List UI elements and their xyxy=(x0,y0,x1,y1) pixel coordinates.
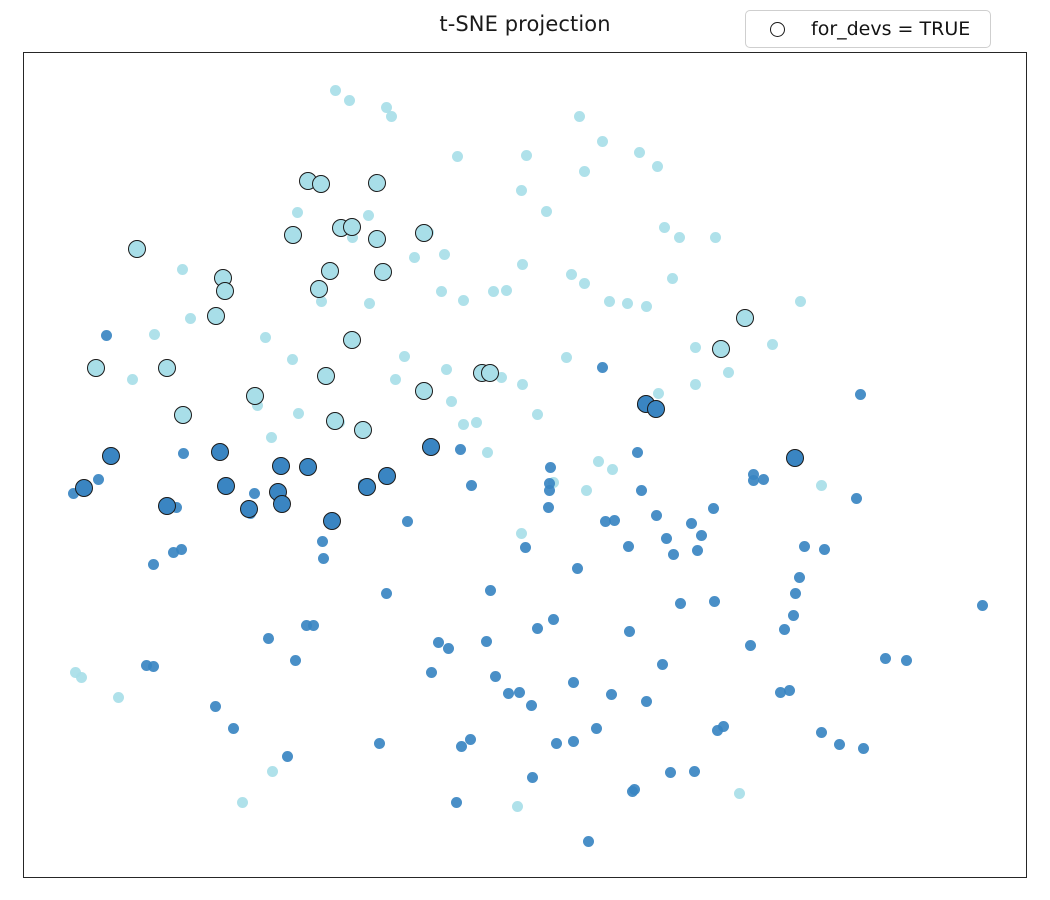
scatter-point xyxy=(520,542,531,553)
scatter-point xyxy=(641,696,652,707)
scatter-point xyxy=(709,596,720,607)
scatter-point xyxy=(880,653,891,664)
scatter-point xyxy=(308,620,319,631)
scatter-point xyxy=(481,636,492,647)
scatter-point xyxy=(696,530,707,541)
scatter-point xyxy=(402,516,413,527)
scatter-point xyxy=(102,447,120,465)
scatter-point xyxy=(799,541,810,552)
scatter-point xyxy=(632,447,643,458)
scatter-point xyxy=(158,497,176,515)
scatter-point xyxy=(374,738,385,749)
scatter-point xyxy=(481,364,499,382)
scatter-point xyxy=(784,685,795,696)
scatter-point xyxy=(653,388,664,399)
scatter-point xyxy=(544,478,555,489)
scatter-point xyxy=(690,342,701,353)
scatter-point xyxy=(426,667,437,678)
scatter-point xyxy=(282,751,293,762)
scatter-point xyxy=(148,661,159,672)
scatter-point xyxy=(512,801,523,812)
scatter-point xyxy=(686,518,697,529)
scatter-point xyxy=(433,637,444,648)
scatter-point xyxy=(647,400,665,418)
scatter-point xyxy=(545,462,556,473)
scatter-point xyxy=(299,458,317,476)
scatter-point xyxy=(579,278,590,289)
scatter-point xyxy=(368,230,386,248)
scatter-point xyxy=(692,545,703,556)
scatter-point xyxy=(901,655,912,666)
scatter-point xyxy=(606,689,617,700)
scatter-point xyxy=(597,136,608,147)
scatter-point xyxy=(451,797,462,808)
scatter-point xyxy=(75,479,93,497)
scatter-point xyxy=(532,623,543,634)
scatter-point xyxy=(458,419,469,430)
scatter-point xyxy=(149,329,160,340)
scatter-point xyxy=(217,477,235,495)
scatter-point xyxy=(788,610,799,621)
scatter-point xyxy=(745,640,756,651)
scatter-point xyxy=(249,488,260,499)
scatter-point xyxy=(668,549,679,560)
scatter-point xyxy=(237,797,248,808)
scatter-point xyxy=(623,541,634,552)
scatter-point xyxy=(548,614,559,625)
scatter-point xyxy=(517,259,528,270)
scatter-point xyxy=(415,382,433,400)
scatter-point xyxy=(659,222,670,233)
scatter-point xyxy=(834,739,845,750)
scatter-point xyxy=(794,572,805,583)
scatter-point xyxy=(816,727,827,738)
scatter-point xyxy=(386,111,397,122)
scatter-point xyxy=(174,406,192,424)
scatter-point xyxy=(622,298,633,309)
scatter-point xyxy=(287,354,298,365)
scatter-point xyxy=(409,252,420,263)
scatter-point xyxy=(665,767,676,778)
scatter-point xyxy=(572,563,583,574)
scatter-point xyxy=(128,240,146,258)
scatter-point xyxy=(374,263,392,281)
scatter-point xyxy=(634,147,645,158)
scatter-point xyxy=(330,85,341,96)
scatter-point xyxy=(272,457,290,475)
scatter-point xyxy=(317,367,335,385)
scatter-point xyxy=(583,836,594,847)
scatter-point xyxy=(604,296,615,307)
scatter-point xyxy=(443,643,454,654)
scatter-point xyxy=(210,701,221,712)
scatter-point xyxy=(76,672,87,683)
scatter-point xyxy=(629,784,640,795)
scatter-point xyxy=(690,379,701,390)
scatter-point xyxy=(185,313,196,324)
scatter-point xyxy=(263,633,274,644)
scatter-point xyxy=(485,585,496,596)
scatter-point xyxy=(321,262,339,280)
scatter-point xyxy=(390,374,401,385)
scatter-point xyxy=(514,687,525,698)
scatter-point xyxy=(312,175,330,193)
scatter-point xyxy=(422,438,440,456)
scatter-point xyxy=(207,307,225,325)
scatter-point xyxy=(446,396,457,407)
scatter-point xyxy=(795,296,806,307)
scatter-point xyxy=(290,655,301,666)
scatter-point xyxy=(657,659,668,670)
scatter-point xyxy=(517,379,528,390)
scatter-point xyxy=(607,464,618,475)
scatter-point xyxy=(597,362,608,373)
scatter-point xyxy=(652,161,663,172)
scatter-point xyxy=(458,295,469,306)
scatter-point xyxy=(651,510,662,521)
scatter-point xyxy=(482,447,493,458)
scatter-point xyxy=(858,743,869,754)
scatter-point xyxy=(855,389,866,400)
scatter-point xyxy=(127,374,138,385)
scatter-point xyxy=(851,493,862,504)
scatter-point xyxy=(977,600,988,611)
scatter-point xyxy=(452,151,463,162)
scatter-point xyxy=(816,480,827,491)
scatter-point xyxy=(609,515,620,526)
scatter-point xyxy=(293,408,304,419)
scatter-point xyxy=(521,150,532,161)
scatter-plot-area[interactable] xyxy=(23,52,1027,878)
scatter-point xyxy=(675,598,686,609)
scatter-point xyxy=(723,367,734,378)
scatter-point xyxy=(581,485,592,496)
scatter-point xyxy=(168,547,179,558)
scatter-point xyxy=(674,232,685,243)
scatter-point xyxy=(323,512,341,530)
scatter-point xyxy=(368,174,386,192)
scatter-point xyxy=(267,766,278,777)
scatter-point xyxy=(317,536,328,547)
scatter-point xyxy=(273,495,291,513)
scatter-point xyxy=(541,206,552,217)
scatter-point xyxy=(712,340,730,358)
scatter-point xyxy=(501,285,512,296)
scatter-point xyxy=(260,332,271,343)
scatter-point xyxy=(381,588,392,599)
scatter-point xyxy=(326,412,344,430)
scatter-point xyxy=(441,364,452,375)
scatter-point xyxy=(624,626,635,637)
scatter-point xyxy=(354,421,372,439)
scatter-point xyxy=(343,218,361,236)
scatter-point xyxy=(551,738,562,749)
scatter-point xyxy=(439,249,450,260)
scatter-point xyxy=(228,723,239,734)
scatter-point xyxy=(591,723,602,734)
scatter-point xyxy=(593,456,604,467)
scatter-point xyxy=(667,273,678,284)
scatter-point xyxy=(736,309,754,327)
scatter-point xyxy=(516,185,527,196)
scatter-point xyxy=(113,692,124,703)
scatter-point xyxy=(358,478,376,496)
scatter-point xyxy=(767,339,778,350)
scatter-point xyxy=(436,286,447,297)
scatter-point xyxy=(216,282,234,300)
scatter-point xyxy=(471,417,482,428)
scatter-point xyxy=(748,469,759,480)
scatter-point xyxy=(292,207,303,218)
scatter-point xyxy=(158,359,176,377)
scatter-point xyxy=(819,544,830,555)
scatter-point xyxy=(455,444,466,455)
scatter-point xyxy=(415,224,433,242)
circle-open-icon xyxy=(770,22,785,37)
scatter-point xyxy=(246,387,264,405)
scatter-point xyxy=(574,111,585,122)
scatter-point xyxy=(718,721,729,732)
scatter-point xyxy=(532,409,543,420)
scatter-point xyxy=(178,448,189,459)
scatter-point xyxy=(364,298,375,309)
legend-box[interactable]: for_devs = TRUE xyxy=(745,10,991,48)
scatter-point xyxy=(490,671,501,682)
scatter-point xyxy=(568,736,579,747)
scatter-point xyxy=(566,269,577,280)
scatter-point xyxy=(527,772,538,783)
scatter-point xyxy=(568,677,579,688)
scatter-point xyxy=(363,210,374,221)
scatter-point xyxy=(790,588,801,599)
scatter-point xyxy=(779,624,790,635)
scatter-point xyxy=(466,480,477,491)
scatter-point xyxy=(710,232,721,243)
figure-canvas: t-SNE projection for_devs = TRUE xyxy=(0,0,1050,900)
scatter-point xyxy=(636,485,647,496)
scatter-point xyxy=(526,700,537,711)
scatter-point xyxy=(689,766,700,777)
scatter-point xyxy=(177,264,188,275)
scatter-point xyxy=(734,788,745,799)
legend-entry-label: for_devs = TRUE xyxy=(811,18,976,40)
scatter-point xyxy=(465,734,476,745)
scatter-point xyxy=(93,474,104,485)
scatter-point xyxy=(758,474,769,485)
scatter-point xyxy=(101,330,112,341)
scatter-point xyxy=(240,500,258,518)
scatter-point xyxy=(344,95,355,106)
scatter-point xyxy=(211,443,229,461)
scatter-point xyxy=(661,533,672,544)
scatter-point xyxy=(378,467,396,485)
scatter-point xyxy=(543,502,554,513)
scatter-point xyxy=(266,432,277,443)
scatter-point xyxy=(87,359,105,377)
scatter-point xyxy=(641,301,652,312)
scatter-point xyxy=(579,166,590,177)
scatter-point xyxy=(561,352,572,363)
scatter-point xyxy=(708,503,719,514)
scatter-point xyxy=(503,688,514,699)
scatter-point xyxy=(343,331,361,349)
scatter-point xyxy=(310,280,328,298)
scatter-point xyxy=(488,286,499,297)
scatter-point xyxy=(399,351,410,362)
scatter-point xyxy=(516,528,527,539)
scatter-point xyxy=(318,553,329,564)
scatter-point xyxy=(786,449,804,467)
scatter-point xyxy=(284,226,302,244)
scatter-point xyxy=(148,559,159,570)
